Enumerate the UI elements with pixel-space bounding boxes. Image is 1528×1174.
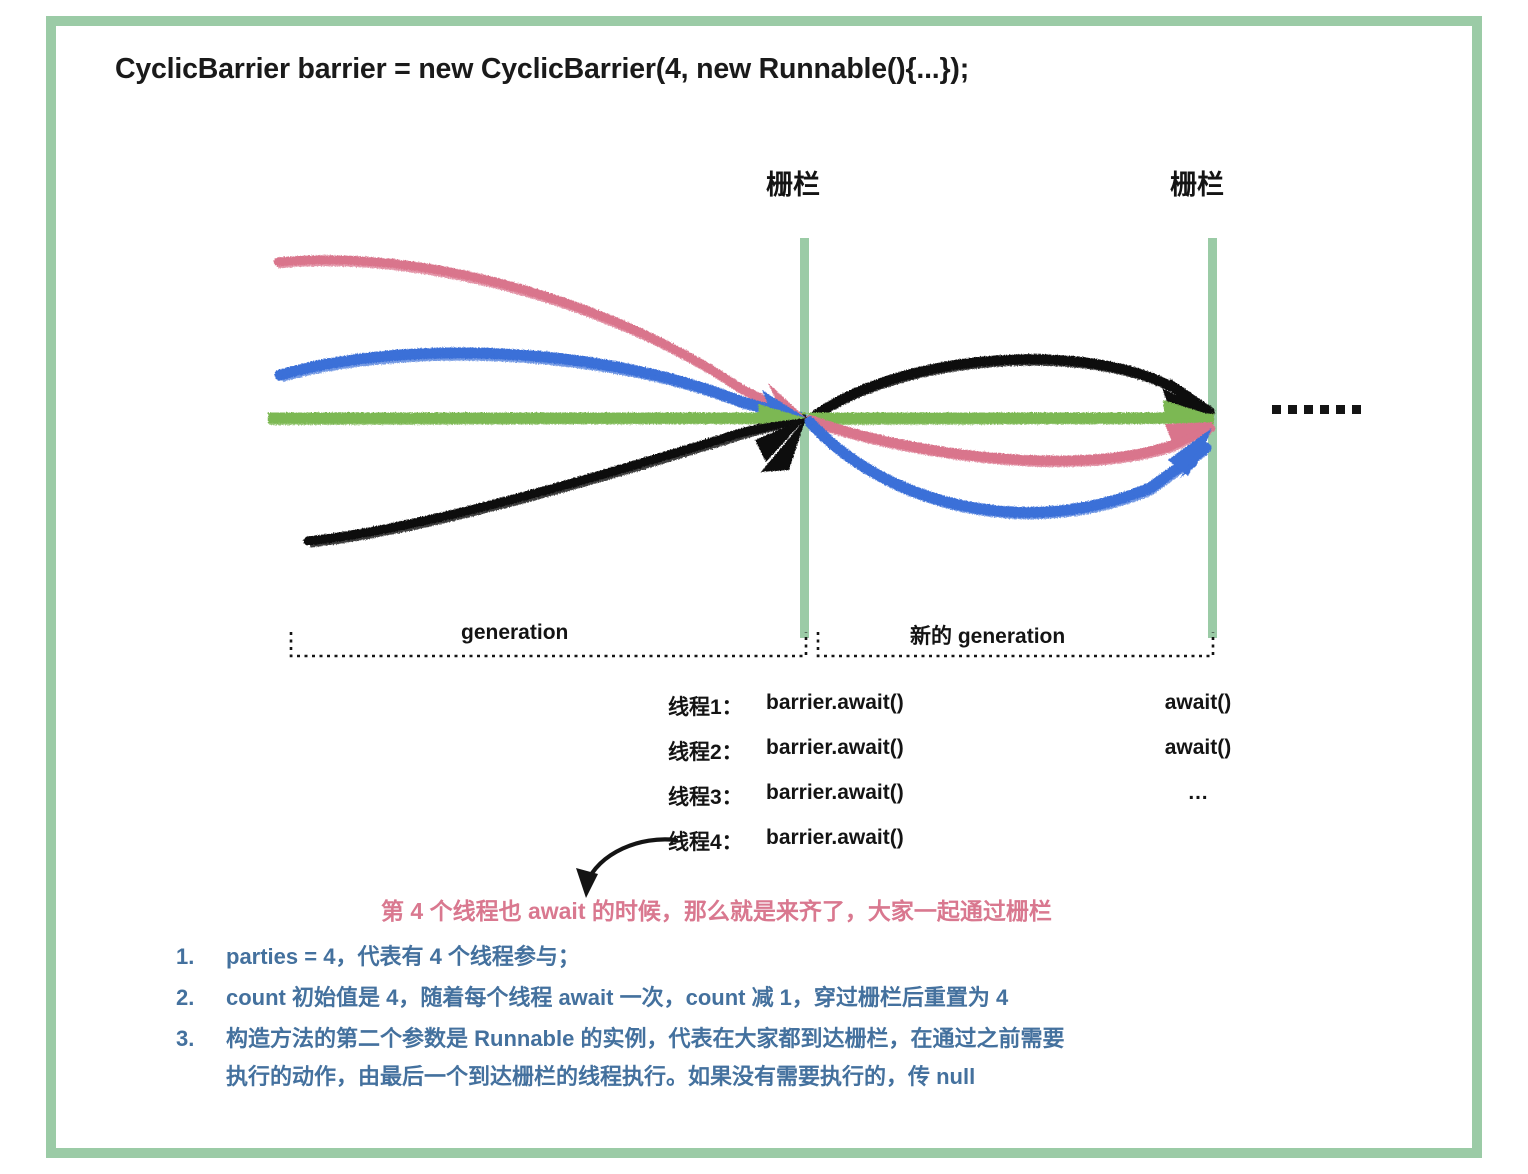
note-number: 1. bbox=[176, 938, 210, 976]
thread-call: barrier.await() bbox=[766, 691, 904, 715]
note-text: parties = 4，代表有 4 个线程参与； bbox=[226, 938, 1326, 976]
thread-name: 线程3： bbox=[668, 781, 743, 811]
note-number: 3. bbox=[176, 1020, 210, 1058]
thread-row: 线程1： barrier.await() await() bbox=[668, 691, 1288, 736]
thread-name: 线程1： bbox=[668, 691, 743, 721]
ellipsis-dots bbox=[1272, 405, 1361, 414]
page-title: CyclicBarrier barrier = new CyclicBarrie… bbox=[115, 53, 969, 86]
thread-row: 线程4： barrier.await() bbox=[668, 826, 1288, 871]
barrier-label-1: 栅栏 bbox=[766, 163, 820, 202]
note-number: 2. bbox=[176, 979, 210, 1017]
thread-call: barrier.await() bbox=[766, 826, 904, 850]
note-text: 构造方法的第二个参数是 Runnable 的实例，代表在大家都到达栅栏，在通过之… bbox=[226, 1020, 1326, 1058]
thread-second-call: … bbox=[1138, 781, 1258, 805]
thread-second-call: await() bbox=[1138, 691, 1258, 715]
generation-label-2: 新的 generation bbox=[910, 620, 1065, 650]
note-item: 2. count 初始值是 4，随着每个线程 await 一次，count 减 … bbox=[176, 979, 1326, 1017]
generation-label-1: generation bbox=[461, 621, 568, 645]
thread-call: barrier.await() bbox=[766, 781, 904, 805]
pink-annotation: 第 4 个线程也 await 的时候，那么就是来齐了，大家一起通过栅栏 bbox=[381, 892, 1052, 926]
note-item: 1. parties = 4，代表有 4 个线程参与； bbox=[176, 938, 1326, 976]
thread-row: 线程3： barrier.await() … bbox=[668, 781, 1288, 826]
note-text: count 初始值是 4，随着每个线程 await 一次，count 减 1，穿… bbox=[226, 979, 1326, 1017]
thread-call: barrier.await() bbox=[766, 736, 904, 760]
thread-second-call: await() bbox=[1138, 736, 1258, 760]
note-item: 3. 构造方法的第二个参数是 Runnable 的实例，代表在大家都到达栅栏，在… bbox=[176, 1020, 1326, 1096]
notes-list: 1. parties = 4，代表有 4 个线程参与； 2. count 初始值… bbox=[176, 938, 1326, 1099]
thread-name: 线程4： bbox=[668, 826, 743, 856]
thread-name: 线程2： bbox=[668, 736, 743, 766]
note-text-cont: 执行的动作，由最后一个到达栅栏的线程执行。如果没有需要执行的，传 null bbox=[226, 1058, 1326, 1096]
barrier-label-2: 栅栏 bbox=[1170, 163, 1224, 202]
diagram-canvas: CyclicBarrier barrier = new CyclicBarrie… bbox=[0, 0, 1528, 1174]
thread-row: 线程2： barrier.await() await() bbox=[668, 736, 1288, 781]
thread-call-list: 线程1： barrier.await() await() 线程2： barrie… bbox=[668, 691, 1288, 871]
